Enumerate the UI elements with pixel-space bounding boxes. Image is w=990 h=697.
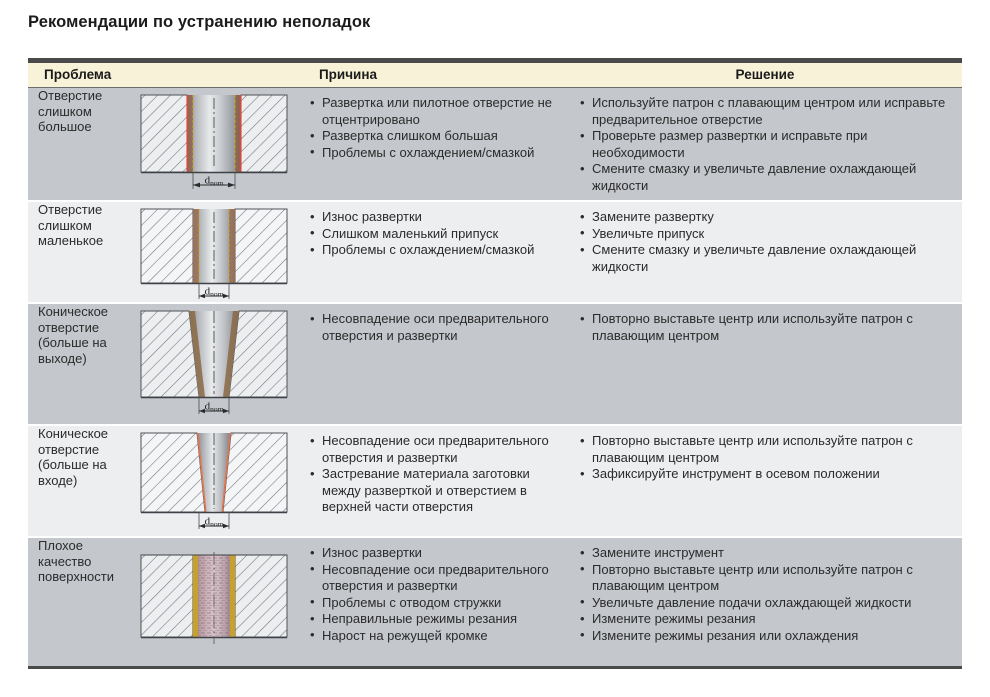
column-header-problem: Проблема — [28, 63, 128, 88]
cell-cause: Развертка или пилотное отверстие не отце… — [300, 88, 568, 201]
solution-list: Используйте патрон с плавающим центром и… — [578, 95, 954, 194]
list-item: Увеличьте давление подачи охлаждающей жи… — [578, 595, 954, 612]
cell-solution: Используйте патрон с плавающим центром и… — [568, 88, 962, 201]
list-item: Износ развертки — [308, 545, 562, 562]
cell-cause: Несовпадение оси предварительного отверс… — [300, 426, 568, 536]
cell-cause: Износ развертки Несовпадение оси предвар… — [300, 538, 568, 666]
list-item: Проблемы с охлаждением/смазкой — [308, 145, 562, 162]
cell-figure — [128, 538, 300, 666]
dimension-label: dnom — [205, 286, 224, 299]
list-item: Проблемы с охлаждением/смазкой — [308, 242, 562, 259]
table-row: Плохое качество поверхности — [28, 538, 962, 666]
list-item: Замените развертку — [578, 209, 954, 226]
table-bottom-rule — [28, 666, 962, 669]
bore-taper-entry-diagram: dnom — [135, 430, 293, 536]
cell-solution: Повторно выставьте центр или используйте… — [568, 304, 962, 424]
cell-figure: dnom — [128, 202, 300, 302]
list-item: Измените режимы резания или охлаждения — [578, 628, 954, 645]
list-item: Развертка слишком большая — [308, 128, 562, 145]
list-item: Несовпадение оси предварительного отверс… — [308, 311, 562, 344]
cell-solution: Замените развертку Увеличьте припуск Сме… — [568, 202, 962, 302]
list-item: Смените смазку и увеличьте давление охла… — [578, 242, 954, 275]
table-row: Отверстие слишком большое — [28, 88, 962, 201]
problem-label: Отверстие слишком маленькое — [28, 202, 128, 249]
table-row: Коническое отверстие (больше на выходе) — [28, 304, 962, 424]
list-item: Застревание материала заготовки между ра… — [308, 466, 562, 516]
list-item: Несовпадение оси предварительного отверс… — [308, 562, 562, 595]
problem-label: Плохое качество поверхности — [28, 538, 128, 585]
dimension-label: dnom — [205, 175, 224, 188]
column-header-cause: Причина — [128, 63, 568, 88]
list-item: Зафиксируйте инструмент в осевом положен… — [578, 466, 954, 483]
list-item: Измените режимы резания — [578, 611, 954, 628]
solution-list: Замените развертку Увеличьте припуск Сме… — [578, 209, 954, 275]
bore-taper-exit-diagram: dnom — [135, 308, 293, 420]
cell-solution: Замените инструмент Повторно выставьте ц… — [568, 538, 962, 666]
page-title: Рекомендации по устранению неполадок — [28, 13, 370, 32]
list-item: Износ развертки — [308, 209, 562, 226]
list-item: Повторно выставьте центр или используйте… — [578, 311, 954, 344]
cell-solution: Повторно выставьте центр или используйте… — [568, 426, 962, 536]
bottom-rule — [28, 666, 962, 669]
problem-label: Отверстие слишком большое — [28, 88, 128, 135]
cause-list: Несовпадение оси предварительного отверс… — [308, 433, 562, 516]
list-item: Развертка или пилотное отверстие не отце… — [308, 95, 562, 128]
list-item: Увеличьте припуск — [578, 226, 954, 243]
table-header: Проблема Причина Решение — [28, 58, 962, 88]
cell-cause: Несовпадение оси предварительного отверс… — [300, 304, 568, 424]
list-item: Смените смазку и увеличьте давление охла… — [578, 161, 954, 194]
solution-list: Повторно выставьте центр или используйте… — [578, 311, 954, 344]
list-item: Проверьте размер развертки и исправьте п… — [578, 128, 954, 161]
cell-problem: Коническое отверстие (больше на входе) — [28, 426, 128, 536]
problem-label: Коническое отверстие (больше на входе) — [28, 426, 128, 488]
column-header-solution: Решение — [568, 63, 962, 88]
cause-list: Несовпадение оси предварительного отверс… — [308, 311, 562, 344]
cell-figure: dnom — [128, 304, 300, 424]
cell-problem: Коническое отверстие (больше на выходе) — [28, 304, 128, 424]
solution-list: Повторно выставьте центр или используйте… — [578, 433, 954, 483]
cell-cause: Износ развертки Слишком маленький припус… — [300, 202, 568, 302]
troubleshooting-table: Проблема Причина Решение Отверстие слишк… — [28, 58, 962, 669]
problem-label: Коническое отверстие (больше на выходе) — [28, 304, 128, 366]
solution-list: Замените инструмент Повторно выставьте ц… — [578, 545, 954, 644]
table-row: Отверстие слишком маленькое — [28, 202, 962, 302]
cause-list: Износ развертки Несовпадение оси предвар… — [308, 545, 562, 644]
cell-problem: Отверстие слишком большое — [28, 88, 128, 201]
cell-problem: Плохое качество поверхности — [28, 538, 128, 666]
list-item: Повторно выставьте центр или используйте… — [578, 562, 954, 595]
list-item: Несовпадение оси предварительного отверс… — [308, 433, 562, 466]
list-item: Проблемы с отводом стружки — [308, 595, 562, 612]
list-item: Используйте патрон с плавающим центром и… — [578, 95, 954, 128]
table-row: Коническое отверстие (больше на входе) — [28, 426, 962, 536]
cell-figure: dnom — [128, 88, 300, 201]
list-item: Замените инструмент — [578, 545, 954, 562]
dimension-label: dnom — [205, 516, 224, 529]
list-item: Повторно выставьте центр или используйте… — [578, 433, 954, 466]
cause-list: Износ развертки Слишком маленький припус… — [308, 209, 562, 259]
table-body: Отверстие слишком большое — [28, 88, 962, 670]
header-row: Проблема Причина Решение — [28, 63, 962, 88]
cell-problem: Отверстие слишком маленькое — [28, 202, 128, 302]
list-item: Слишком маленький припуск — [308, 226, 562, 243]
list-item: Нарост на режущей кромке — [308, 628, 562, 645]
list-item: Неправильные режимы резания — [308, 611, 562, 628]
dimension-label: dnom — [205, 401, 224, 414]
bore-rough-surface-diagram — [135, 552, 293, 652]
cause-list: Развертка или пилотное отверстие не отце… — [308, 95, 562, 161]
cell-figure: dnom — [128, 426, 300, 536]
bore-oversize-diagram: dnom — [135, 92, 293, 194]
bore-undersize-diagram: dnom — [135, 206, 293, 302]
